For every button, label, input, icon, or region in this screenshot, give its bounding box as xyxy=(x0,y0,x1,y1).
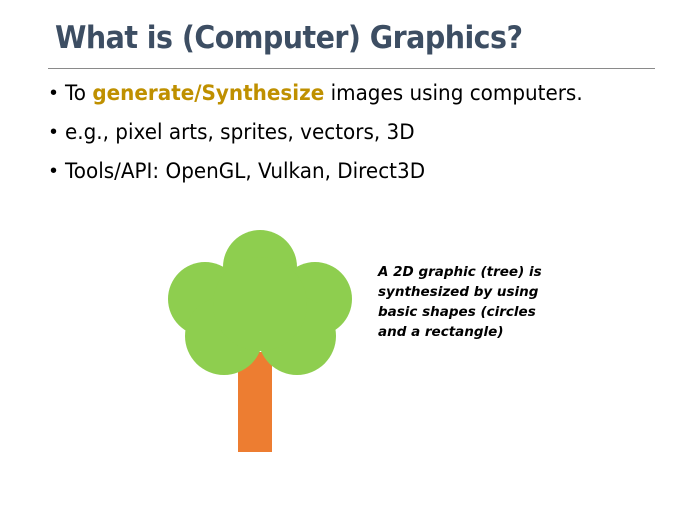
caption-line: synthesized by using xyxy=(378,282,553,302)
list-item-text: e.g., pixel arts, sprites, vectors, 3D xyxy=(65,117,415,147)
caption-line: and a rectangle) xyxy=(378,322,553,342)
page-title: What is (Computer) Graphics? xyxy=(55,18,607,58)
caption-line: A 2D graphic (tree) is xyxy=(378,262,553,282)
tree-illustration xyxy=(160,222,360,462)
bullet-marker-icon: • xyxy=(50,156,65,186)
bullet-text-highlight: generate/Synthesize xyxy=(92,81,324,105)
figure-caption: A 2D graphic (tree) is synthesized by us… xyxy=(378,262,553,342)
list-item: • e.g., pixel arts, sprites, vectors, 3D xyxy=(50,117,660,156)
slide-canvas: What is (Computer) Graphics? • To genera… xyxy=(0,0,700,525)
bullet-text-pre: To xyxy=(65,81,92,105)
list-item-text: To generate/Synthesize images using comp… xyxy=(65,78,583,108)
title-divider xyxy=(48,68,655,69)
list-item: • Tools/API: OpenGL, Vulkan, Direct3D xyxy=(50,156,660,195)
caption-line: basic shapes (circles xyxy=(378,302,553,322)
list-item-text: Tools/API: OpenGL, Vulkan, Direct3D xyxy=(65,156,425,186)
bullet-list: • To generate/Synthesize images using co… xyxy=(50,78,660,195)
list-item: • To generate/Synthesize images using co… xyxy=(50,78,660,117)
tree-canopy-circle-center xyxy=(213,257,307,351)
bullet-text-post: images using computers. xyxy=(324,81,582,105)
bullet-marker-icon: • xyxy=(50,78,65,108)
bullet-marker-icon: • xyxy=(50,117,65,147)
